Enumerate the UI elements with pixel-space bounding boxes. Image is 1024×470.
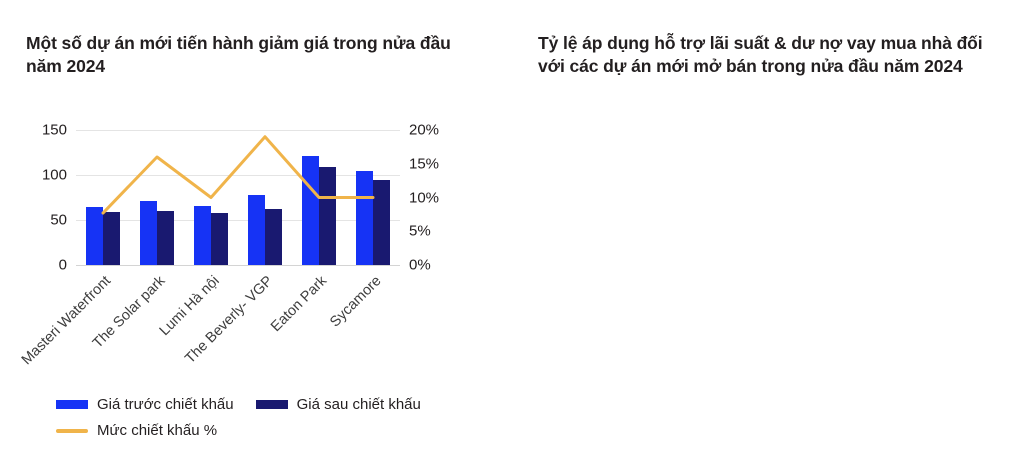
bar — [302, 156, 319, 265]
bar — [319, 167, 336, 265]
right-chart-title: Tỷ lệ áp dụng hỗ trợ lãi suất & dư nợ va… — [538, 32, 1008, 78]
legend-label: Giá sau chiết khấu — [297, 396, 421, 413]
left-plot-area: 050100150 0%5%10%15%20% Masteri Waterfro… — [76, 130, 400, 265]
dual-chart-figure: Một số dự án mới tiến hành giảm giá tron… — [0, 0, 1024, 470]
legend-label: Mức chiết khấu % — [97, 422, 217, 439]
left-chart-panel: Một số dự án mới tiến hành giảm giá tron… — [0, 0, 512, 470]
bar — [265, 209, 282, 265]
y-axis-tick-label: 100 — [42, 167, 76, 184]
bar-group — [130, 130, 184, 265]
bar-group — [184, 130, 238, 265]
right-chart-panel: Tỷ lệ áp dụng hỗ trợ lãi suất & dư nợ va… — [512, 0, 1024, 470]
bar-group — [76, 130, 130, 265]
left-chart-title: Một số dự án mới tiến hành giảm giá tron… — [26, 32, 486, 78]
legend-item[interactable]: Mức chiết khấu % — [56, 422, 486, 439]
bar — [103, 212, 120, 265]
secondary-y-axis-tick-label: 15% — [400, 155, 439, 172]
y-axis-tick-label: 0 — [59, 257, 76, 274]
gridline — [76, 265, 400, 266]
legend-bar-swatch — [56, 400, 88, 409]
secondary-y-axis-tick-label: 5% — [400, 223, 431, 240]
y-axis-tick-label: 150 — [42, 122, 76, 139]
left-bar-groups — [76, 130, 400, 265]
bar-group — [238, 130, 292, 265]
legend-item[interactable]: Giá sau chiết khấu — [256, 396, 421, 413]
left-chart-legend: Giá trước chiết khấuGiá sau chiết khấuMứ… — [56, 396, 486, 439]
legend-item[interactable]: Giá trước chiết khấu — [56, 396, 234, 413]
bar — [248, 195, 265, 265]
x-axis-tick-label: Sycamore — [327, 273, 384, 330]
legend-label: Giá trước chiết khấu — [97, 396, 234, 413]
secondary-y-axis-tick-label: 0% — [400, 257, 431, 274]
bar — [140, 201, 157, 265]
x-axis-tick-label: Eaton Park — [268, 273, 330, 335]
bar — [211, 213, 228, 265]
x-axis-tick-label: Masteri Waterfront — [19, 273, 114, 368]
secondary-y-axis-tick-label: 20% — [400, 122, 439, 139]
bar — [86, 207, 103, 265]
y-axis-tick-label: 50 — [50, 212, 76, 229]
secondary-y-axis-tick-label: 10% — [400, 189, 439, 206]
bar — [157, 211, 174, 265]
bar — [194, 206, 211, 265]
legend-bar-swatch — [256, 400, 288, 409]
bar-group — [292, 130, 346, 265]
bar-group — [346, 130, 400, 265]
bar — [356, 171, 373, 265]
bar — [373, 180, 390, 266]
legend-line-swatch — [56, 429, 88, 433]
